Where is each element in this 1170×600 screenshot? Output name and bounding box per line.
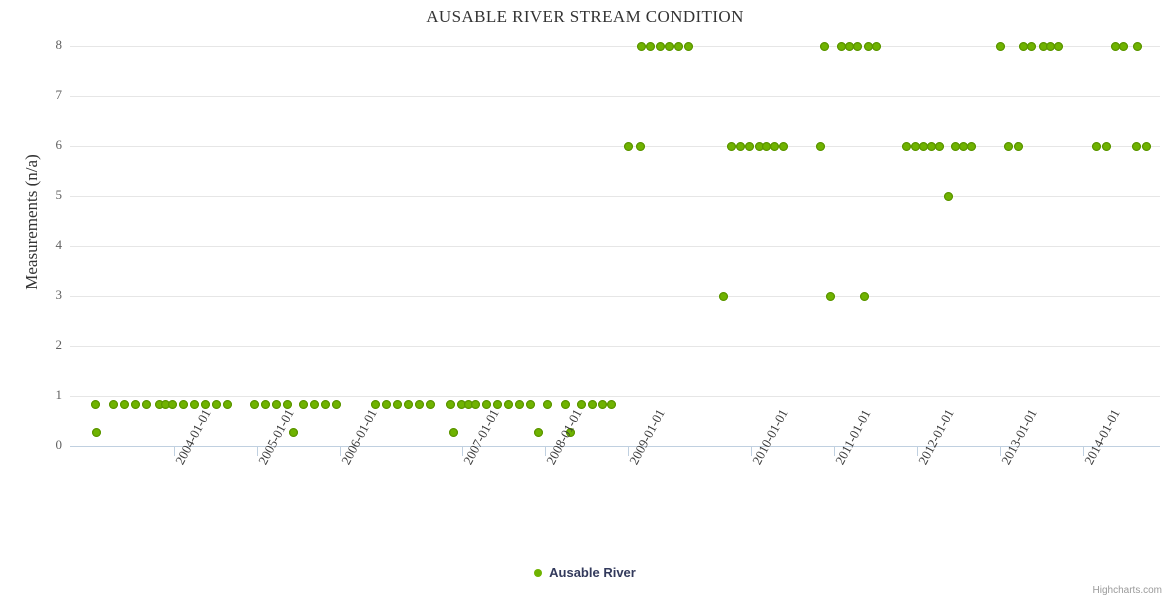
data-point[interactable] — [1004, 142, 1013, 151]
highcharts-credit: Highcharts.com — [1093, 585, 1162, 596]
x-axis: 2004-01-012005-01-012006-01-012007-01-01… — [0, 446, 1170, 566]
legend-item-ausable-river[interactable]: Ausable River — [534, 564, 636, 580]
y-gridline — [70, 146, 1160, 147]
data-point[interactable] — [607, 400, 616, 409]
data-point[interactable] — [656, 42, 665, 51]
data-point[interactable] — [1119, 42, 1128, 51]
data-point[interactable] — [504, 400, 513, 409]
data-point[interactable] — [92, 428, 101, 437]
data-point[interactable] — [598, 400, 607, 409]
data-point[interactable] — [853, 42, 862, 51]
data-point[interactable] — [332, 400, 341, 409]
data-point[interactable] — [935, 142, 944, 151]
y-gridline — [70, 296, 1160, 297]
data-point[interactable] — [996, 42, 1005, 51]
data-point[interactable] — [902, 142, 911, 151]
data-point[interactable] — [1054, 42, 1063, 51]
data-point[interactable] — [142, 400, 151, 409]
data-point[interactable] — [120, 400, 129, 409]
data-point[interactable] — [261, 400, 270, 409]
data-point[interactable] — [1092, 142, 1101, 151]
data-point[interactable] — [624, 142, 633, 151]
data-point[interactable] — [646, 42, 655, 51]
data-point[interactable] — [1132, 142, 1141, 151]
data-point[interactable] — [967, 142, 976, 151]
y-tick-label: 7 — [22, 87, 62, 103]
chart-title: AUSABLE RIVER STREAM CONDITION — [0, 7, 1170, 27]
data-point[interactable] — [131, 400, 140, 409]
data-point[interactable] — [665, 42, 674, 51]
data-point[interactable] — [446, 400, 455, 409]
data-point[interactable] — [779, 142, 788, 151]
data-point[interactable] — [471, 400, 480, 409]
data-point[interactable] — [1142, 142, 1151, 151]
y-tick-label: 5 — [22, 187, 62, 203]
data-point[interactable] — [684, 42, 693, 51]
data-point[interactable] — [637, 42, 646, 51]
data-point[interactable] — [534, 428, 543, 437]
data-point[interactable] — [371, 400, 380, 409]
data-point[interactable] — [310, 400, 319, 409]
data-point[interactable] — [223, 400, 232, 409]
y-tick-label: 4 — [22, 237, 62, 253]
data-point[interactable] — [745, 142, 754, 151]
data-point[interactable] — [299, 400, 308, 409]
data-point[interactable] — [1014, 142, 1023, 151]
data-point[interactable] — [321, 400, 330, 409]
y-gridline — [70, 96, 1160, 97]
data-point[interactable] — [393, 400, 402, 409]
data-point[interactable] — [179, 400, 188, 409]
y-tick-label: 2 — [22, 337, 62, 353]
data-point[interactable] — [493, 400, 502, 409]
data-point[interactable] — [770, 142, 779, 151]
data-point[interactable] — [561, 400, 570, 409]
data-point[interactable] — [515, 400, 524, 409]
data-point[interactable] — [1027, 42, 1036, 51]
data-point[interactable] — [826, 292, 835, 301]
data-point[interactable] — [1102, 142, 1111, 151]
y-gridline — [70, 346, 1160, 347]
legend-item-label: Ausable River — [549, 565, 636, 580]
data-point[interactable] — [168, 400, 177, 409]
data-point[interactable] — [636, 142, 645, 151]
data-point[interactable] — [820, 42, 829, 51]
y-tick-label: 6 — [22, 137, 62, 153]
data-point[interactable] — [449, 428, 458, 437]
data-point[interactable] — [404, 400, 413, 409]
data-point[interactable] — [212, 400, 221, 409]
data-point[interactable] — [415, 400, 424, 409]
data-point[interactable] — [674, 42, 683, 51]
data-point[interactable] — [860, 292, 869, 301]
data-point[interactable] — [588, 400, 597, 409]
data-point[interactable] — [382, 400, 391, 409]
y-tick-label: 3 — [22, 287, 62, 303]
data-point[interactable] — [250, 400, 259, 409]
y-gridline — [70, 196, 1160, 197]
data-point[interactable] — [719, 292, 728, 301]
data-point[interactable] — [190, 400, 199, 409]
data-point[interactable] — [816, 142, 825, 151]
y-tick-label: 1 — [22, 387, 62, 403]
plot-area — [70, 46, 1160, 446]
data-point[interactable] — [1133, 42, 1142, 51]
y-gridline — [70, 246, 1160, 247]
data-point[interactable] — [872, 42, 881, 51]
y-tick-label: 8 — [22, 37, 62, 53]
data-point[interactable] — [91, 400, 100, 409]
data-point[interactable] — [727, 142, 736, 151]
legend-marker-icon — [534, 569, 542, 577]
chart-container: AUSABLE RIVER STREAM CONDITION Measureme… — [0, 0, 1170, 600]
data-point[interactable] — [272, 400, 281, 409]
data-point[interactable] — [526, 400, 535, 409]
chart-legend: Ausable River — [0, 564, 1170, 580]
data-point[interactable] — [736, 142, 745, 151]
data-point[interactable] — [426, 400, 435, 409]
data-point[interactable] — [109, 400, 118, 409]
y-axis-title: Measurements (n/a) — [22, 22, 42, 422]
data-point[interactable] — [289, 428, 298, 437]
data-point[interactable] — [577, 400, 586, 409]
data-point[interactable] — [543, 400, 552, 409]
data-point[interactable] — [944, 192, 953, 201]
y-gridline — [70, 396, 1160, 397]
